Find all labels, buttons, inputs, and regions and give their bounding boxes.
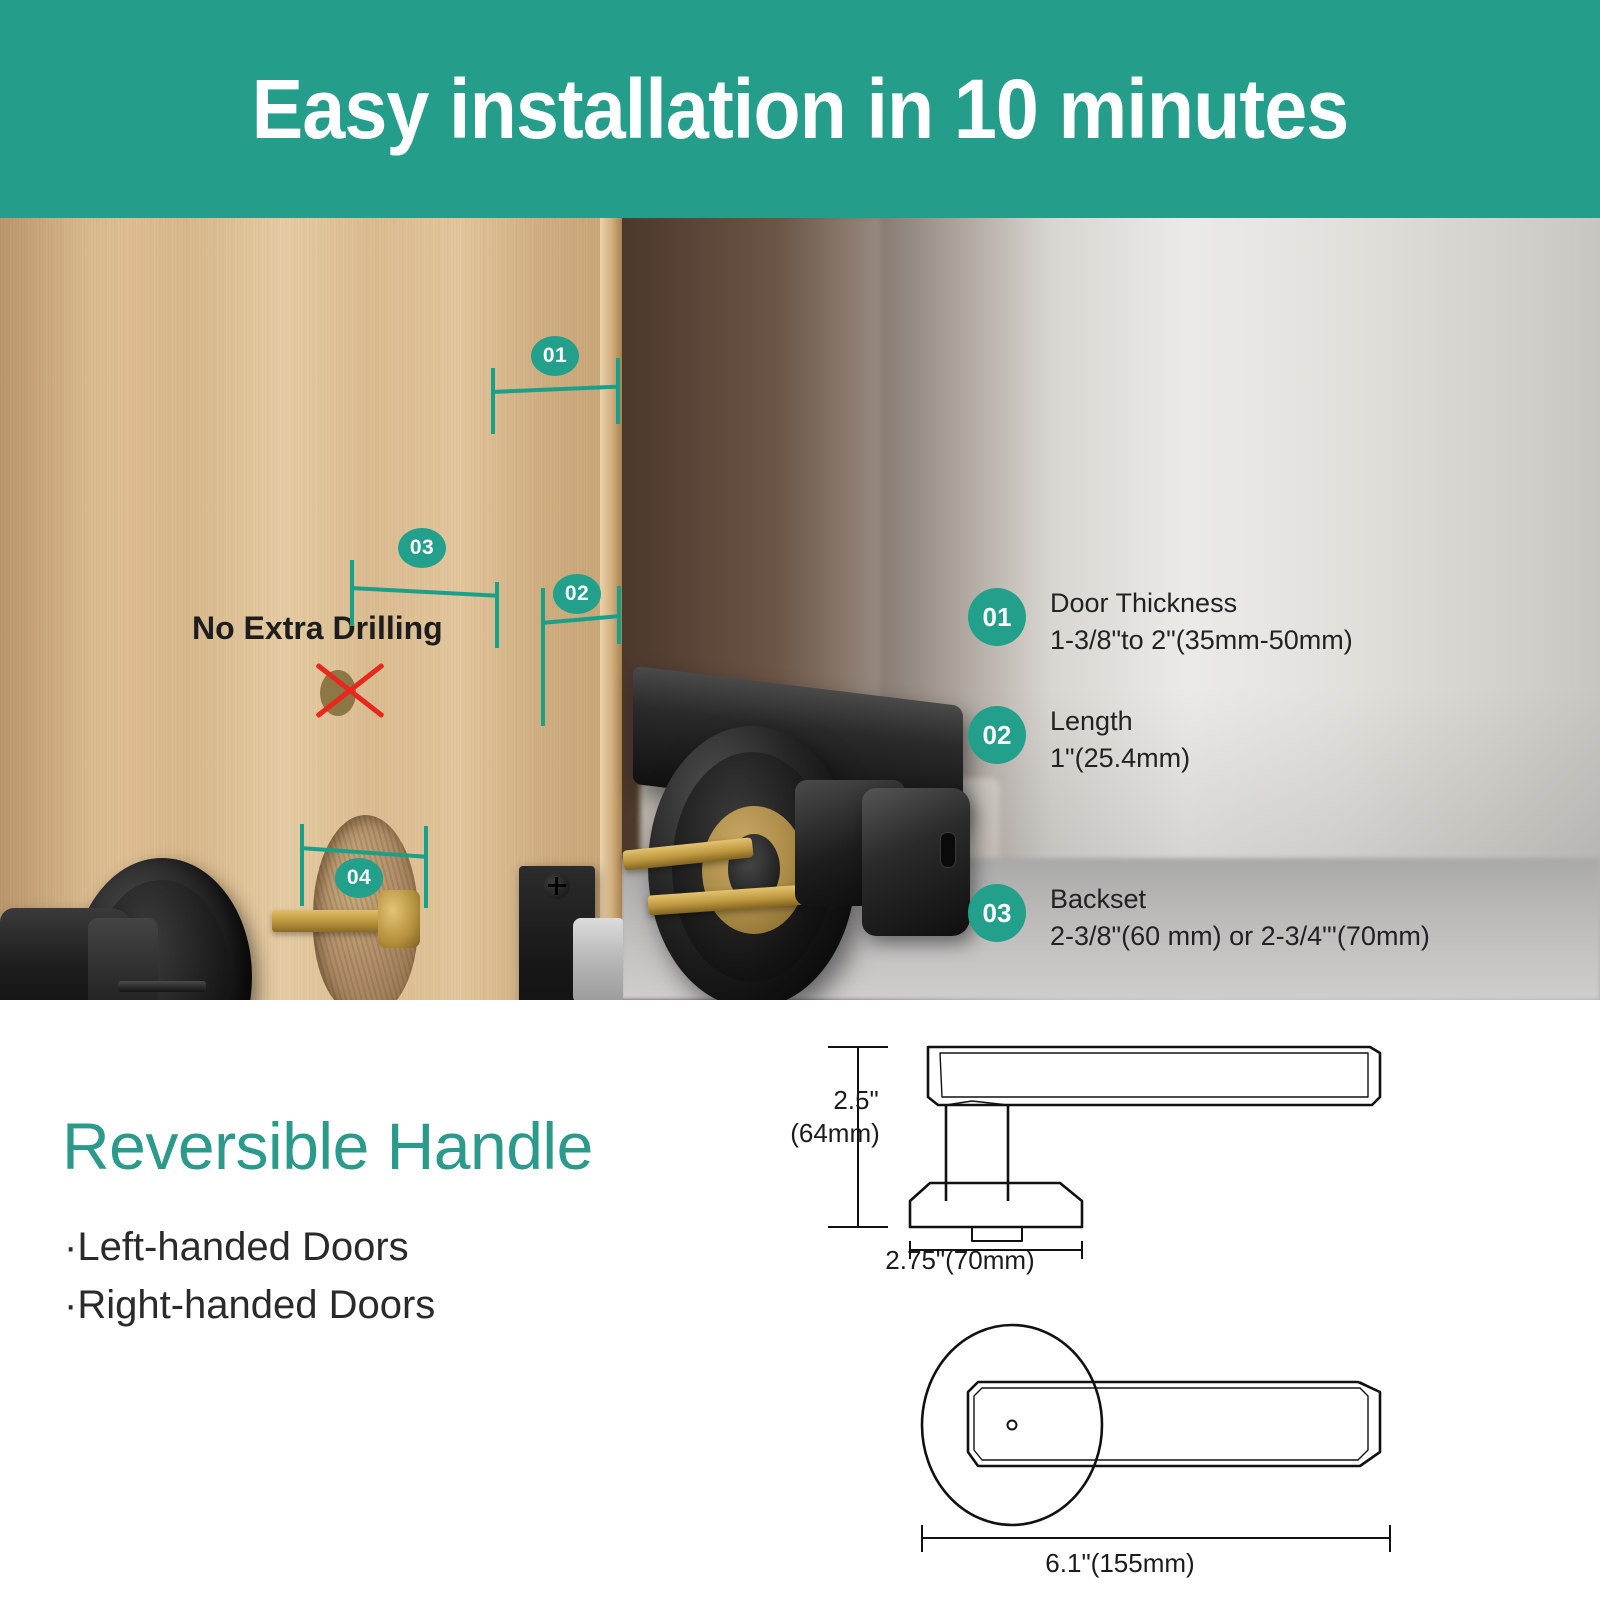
dim-tick-02-left xyxy=(541,588,545,726)
mounting-screw xyxy=(118,981,206,992)
latch-bolt xyxy=(573,918,623,1000)
dim-tick-03-left xyxy=(350,560,354,626)
dim-badge-02: 02 xyxy=(553,574,601,614)
header-banner: Easy installation in 10 minutes xyxy=(0,0,1600,218)
spec-title-03: Backset xyxy=(1050,884,1430,916)
installation-photo: No Extra Drilling 01 03 02 04 01 Door T xyxy=(0,218,1600,1000)
spec-value-03: 2-3/8"(60 mm) or 2-3/4"'(70mm) xyxy=(1050,920,1430,954)
reversible-title: Reversible Handle xyxy=(62,1108,593,1184)
technical-drawing-top-view xyxy=(860,1300,1480,1590)
dim-label-rosette-width: 2.75"(70mm) xyxy=(850,1245,1070,1276)
dim-tick-03-right xyxy=(495,582,499,648)
spec-text-01: Door Thickness 1-3/8"to 2"(35mm-50mm) xyxy=(1050,588,1353,658)
spec-title-02: Length xyxy=(1050,706,1190,738)
spec-title-01: Door Thickness xyxy=(1050,588,1353,620)
spec-badge-03: 03 xyxy=(968,884,1026,942)
dim-badge-01: 01 xyxy=(531,336,579,376)
dim-label-lever-length: 6.1"(155mm) xyxy=(1000,1548,1240,1579)
dim-badge-03: 03 xyxy=(398,528,446,568)
dim-tick-04-right xyxy=(424,826,428,908)
dim-badge-04: 04 xyxy=(335,858,383,898)
spec-value-01: 1-3/8"to 2"(35mm-50mm) xyxy=(1050,624,1353,658)
usb-c-port-icon xyxy=(940,832,956,868)
spec-value-02: 1"(25.4mm) xyxy=(1050,742,1190,776)
reversible-item-left: ·Left-handed Doors xyxy=(64,1225,409,1270)
product-infographic: Easy installation in 10 minutes xyxy=(0,0,1600,1600)
dim-tick-01-right xyxy=(616,358,620,424)
reversible-item-right: ·Right-handed Doors xyxy=(64,1283,435,1328)
page-title: Easy installation in 10 minutes xyxy=(252,67,1349,151)
spec-text-03: Backset 2-3/8"(60 mm) or 2-3/4"'(70mm) xyxy=(1050,884,1430,954)
dim-label-height-inches: 2.5" xyxy=(806,1085,906,1116)
spec-badge-01: 01 xyxy=(968,588,1026,646)
dim-tick-01-left xyxy=(491,368,495,434)
no-drilling-label: No Extra Drilling xyxy=(192,610,443,647)
door-shadow xyxy=(0,218,120,1000)
spindle-cap xyxy=(378,890,420,948)
spec-text-02: Length 1"(25.4mm) xyxy=(1050,706,1190,776)
dim-label-height-mm: (64mm) xyxy=(760,1118,910,1149)
latch-screw-top xyxy=(544,873,570,899)
spec-row-03: 03 Backset 2-3/8"(60 mm) or 2-3/4"'(70mm… xyxy=(968,884,1430,954)
spec-badge-02: 02 xyxy=(968,706,1026,764)
dim-tick-04-left xyxy=(300,824,304,906)
spec-row-02: 02 Length 1"(25.4mm) xyxy=(968,706,1190,776)
spec-row-01: 01 Door Thickness 1-3/8"to 2"(35mm-50mm) xyxy=(968,588,1353,658)
